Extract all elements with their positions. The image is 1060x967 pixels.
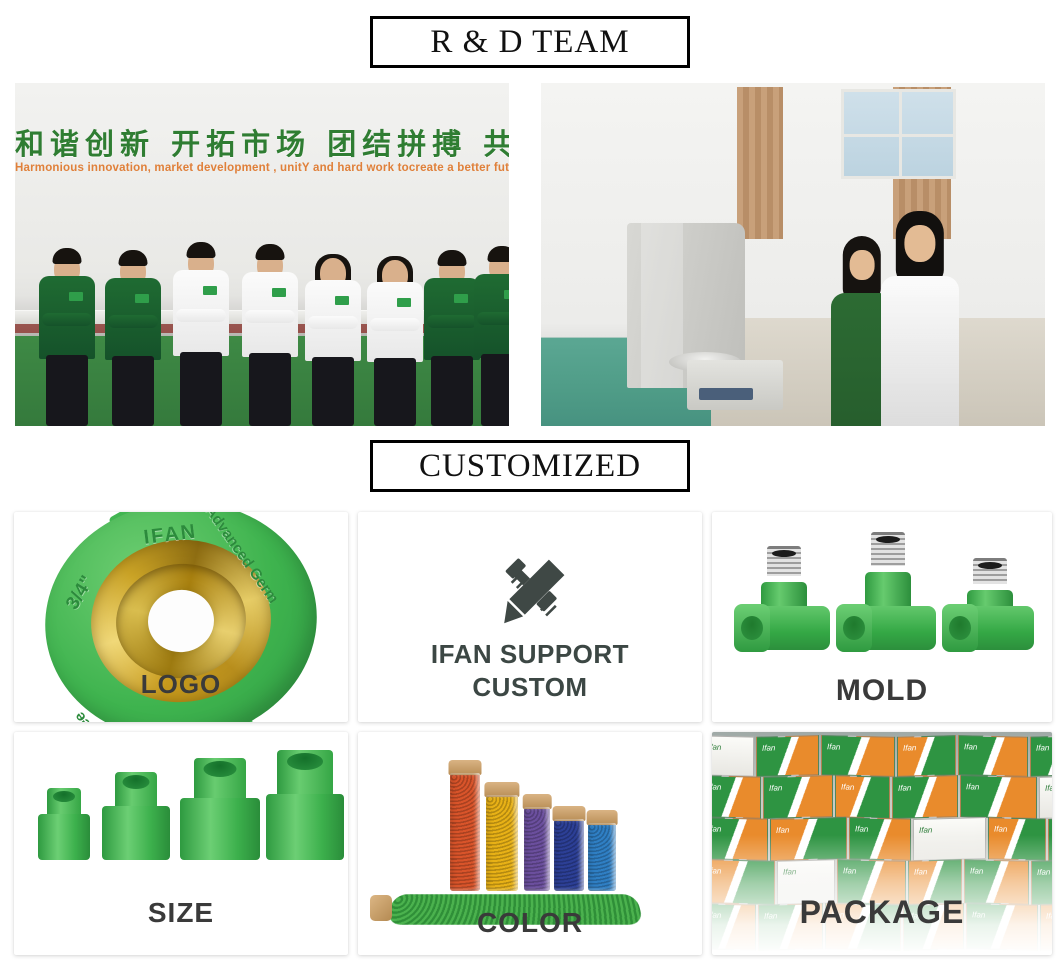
card-label-mold: MOLD (712, 674, 1052, 708)
reducer-bore (204, 761, 237, 777)
reducer-bore (123, 775, 150, 789)
reducer-coupling (38, 784, 90, 860)
section-banner-customized: CUSTOMIZED (370, 440, 690, 492)
tee-socket (836, 604, 872, 652)
chrome-thread (767, 546, 801, 576)
reducer-coupling (266, 746, 344, 860)
card-color[interactable]: COLOR (358, 732, 702, 955)
carton: Ifan (763, 775, 833, 819)
section-title-customized: CUSTOMIZED (419, 448, 641, 485)
tee-fitting (946, 554, 1034, 650)
lab-window (841, 89, 956, 179)
team-member (474, 244, 509, 426)
granule-vial (486, 795, 518, 891)
laboratory-testing-photo (541, 83, 1045, 426)
card-package[interactable]: IfanIfanIfanIfanIfanIfanIfanIfanIfanIfan… (712, 732, 1052, 955)
rd-team-group-photo: 和谐创新 开拓市场 团结拼搏 共创未来 Harmonious innovatio… (15, 83, 509, 426)
team-member (305, 250, 361, 426)
wall-slogan-chinese: 和谐创新 开拓市场 团结拼搏 共创未来 (15, 121, 509, 163)
chrome-thread (871, 532, 905, 566)
card-label-logo: LOGO (14, 669, 348, 700)
team-member (39, 246, 95, 426)
reducer-large-end (102, 806, 170, 860)
wall-slogan-english: Harmonious innovation, market developmen… (15, 162, 509, 174)
card-label-size: SIZE (14, 897, 348, 929)
reducer-large-end (266, 794, 344, 860)
carton: Ifan (1039, 775, 1052, 819)
lab-technician (881, 211, 959, 426)
carton: Ifan (821, 735, 895, 777)
card-logo[interactable]: IFAN 3/4" Advanced Germ antee LOGO (14, 512, 348, 722)
reducer-large-end (180, 798, 260, 860)
reducer-coupling (180, 754, 260, 860)
reducer-small-end (194, 758, 246, 802)
card-ifan-support-custom[interactable]: IFAN SUPPORT CUSTOM (358, 512, 702, 722)
carton: Ifan (892, 775, 958, 819)
card-label-color: COLOR (358, 907, 702, 939)
reducer-small-end (115, 772, 157, 810)
carton: Ifan (958, 735, 1028, 777)
team-member (424, 248, 480, 426)
vial-glass (588, 823, 616, 891)
team-member (367, 252, 423, 426)
vial-glass (486, 795, 518, 891)
granule-vial (450, 773, 480, 891)
reducer-coupling (102, 768, 170, 860)
vial-glass (450, 773, 480, 891)
carton: Ifan (712, 775, 761, 818)
section-banner-rd-team: R & D TEAM (370, 16, 690, 68)
granule-vial (554, 819, 584, 891)
section-title-rd-team: R & D TEAM (430, 24, 629, 61)
support-heading: IFAN SUPPORT CUSTOM (358, 638, 702, 703)
vial-glass (524, 807, 550, 891)
granule-vial (588, 823, 616, 891)
product-detail-page: R & D TEAM 和谐创新 开拓市场 团结拼搏 共创未来 Harmoniou… (0, 0, 1060, 967)
vial-glass (554, 819, 584, 891)
card-mold[interactable]: MOLD (712, 512, 1052, 722)
support-heading-line2: CUSTOM (358, 671, 702, 704)
reducer-bore (53, 791, 75, 802)
card-size[interactable]: SIZE (14, 732, 348, 955)
team-member (105, 248, 161, 426)
chrome-thread (973, 558, 1007, 584)
tee-socket (734, 604, 770, 652)
tee-fitting (738, 542, 830, 650)
team-member (173, 240, 229, 426)
rd-photo-row: 和谐创新 开拓市场 团结拼搏 共创未来 Harmonious innovatio… (0, 83, 1060, 426)
customization-card-grid: IFAN 3/4" Advanced Germ antee LOGO (14, 512, 1046, 955)
tee-socket (942, 604, 978, 652)
pencil-ruler-cross-icon (487, 551, 573, 637)
carton: Ifan (756, 735, 819, 777)
granule-vial (524, 807, 550, 891)
carton: Ifan (835, 775, 890, 818)
team-member (242, 242, 298, 426)
support-heading-line1: IFAN SUPPORT (358, 638, 702, 671)
carton: Ifan (1030, 735, 1052, 777)
carton: Ifan (960, 775, 1037, 819)
carton: Ifan (897, 735, 956, 777)
balance-keypad (699, 388, 753, 400)
analytical-balance (687, 360, 783, 410)
card-label-package: PACKAGE (712, 894, 1052, 931)
reducer-large-end (38, 814, 90, 860)
reducer-bore (287, 753, 323, 770)
carton: Ifan (712, 735, 754, 776)
curtain-left (737, 87, 783, 239)
reducer-small-end (277, 750, 333, 798)
tee-fitting (840, 528, 936, 650)
